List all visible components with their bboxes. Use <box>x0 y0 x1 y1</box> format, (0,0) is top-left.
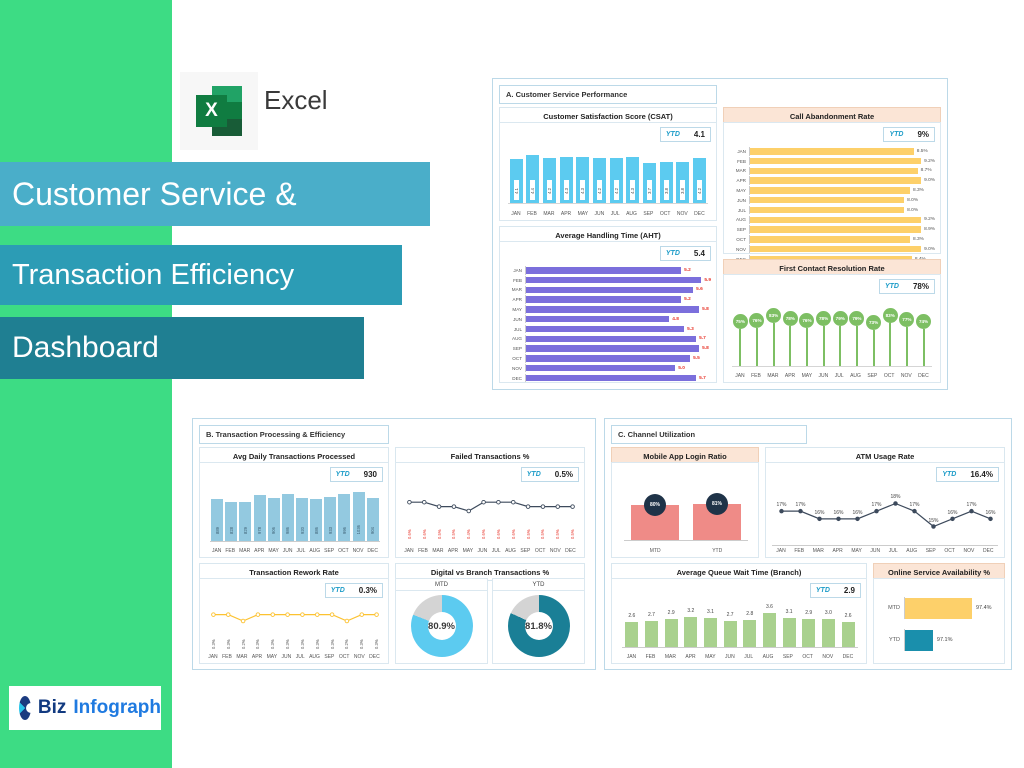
fcr-x-axis: JANFEBMARAPRMAYJUNJULAUGSEPOCTNOVDEC <box>732 373 932 379</box>
rework-ytd-label: YTD <box>331 587 345 594</box>
csat-ytd-value: 4.1 <box>694 130 705 139</box>
excel-app-name: Excel <box>264 85 328 116</box>
logo-biz-text: Biz <box>38 697 67 719</box>
call-abandonment-plot-area: JAN8.5%FEB9.2%MAR8.7%APR9.0%MAY8.3%JUN8.… <box>729 147 935 265</box>
aht-ytd-box: YTD 5.4 <box>660 246 711 261</box>
adt-ytd-value: 930 <box>364 470 377 479</box>
failed-ytd-value: 0.5% <box>555 470 573 479</box>
csat-plot-area: 4.14.44.24.34.34.24.24.33.73.83.84.2 <box>508 149 708 204</box>
aht-plot-area: JAN5.2FEB5.9MAR5.6APR5.2MAY5.8JUN4.8JUL5… <box>505 266 711 384</box>
rework-x-axis: JANFEBMARAPRMAYJUNJULAUGSEPOCTNOVDEC <box>206 654 382 660</box>
failed-ytd-label: YTD <box>527 471 541 478</box>
mobile-login-x-axis: MTDYTD <box>624 548 748 554</box>
donut-mtd: 80.9% <box>411 595 473 657</box>
adt-plot-area: 8898288299789069869208869339961036904 <box>210 489 380 542</box>
fcr-ytd-value: 78% <box>913 282 929 291</box>
csat-ytd-label: YTD <box>666 131 680 138</box>
chart-digital-vs-branch: MTD 80.9% YTD 81.8% <box>395 578 585 664</box>
left-green-band <box>0 0 172 768</box>
failed-x-axis: JANFEBMARAPRMAYJUNJULAUGSEPOCTNOVDEC <box>402 548 578 554</box>
pie-chart-icon <box>19 696 31 720</box>
chart-call-abandonment: YTD 9% JAN8.5%FEB9.2%MAR8.7%APR9.0%MAY8.… <box>723 122 941 254</box>
aht-ytd-label: YTD <box>666 250 680 257</box>
adt-x-axis: JANFEBMARAPRMAYJUNJULAUGSEPOCTNOVDEC <box>210 548 380 554</box>
panel-transaction-processing: B. Transaction Processing & Efficiency A… <box>192 418 596 670</box>
donut-ytd-value: 81.8% <box>508 595 570 657</box>
title-line-2: Transaction Efficiency <box>0 245 402 305</box>
atm-ytd-value: 16.4% <box>970 470 993 479</box>
mobile-login-plot-area: 80%81% <box>624 477 748 541</box>
fcr-plot-area: 75%76%83%78%76%78%79%79%73%83%77%74% <box>732 303 932 367</box>
adt-ytd-label: YTD <box>336 471 350 478</box>
donut-mtd-label: MTD <box>396 579 487 591</box>
donut-card-ytd: YTD 81.8% <box>492 578 585 664</box>
chart-avg-daily-transactions: YTD 930 88982882997890698692088693399610… <box>199 462 389 558</box>
donut-mtd-value: 80.9% <box>411 595 473 657</box>
queue-ytd-box: YTD 2.9 <box>810 583 861 598</box>
csat-x-axis: JANFEBMARAPRMAYJUNJULAUGSEPOCTNOVDEC <box>508 211 708 217</box>
queue-plot-area: 2.62.72.93.23.12.72.83.63.12.93.02.6 <box>622 609 858 648</box>
chart-rework-rate: YTD 0.3% 0.3%0.3%0.2%0.3%0.3%0.3%0.3%0.3… <box>199 578 389 664</box>
rework-value-labels: 0.3%0.3%0.2%0.3%0.3%0.3%0.3%0.3%0.3%0.2%… <box>206 623 384 649</box>
section-a-title: A. Customer Service Performance <box>499 85 717 104</box>
chart-failed-transactions: YTD 0.5% 0.6%0.6%0.5%0.5%0.4%0.6%0.6%0.6… <box>395 462 585 558</box>
atm-value-labels: 17%17%16%16%16%17%18%17%15%16%17%16% <box>772 491 1000 539</box>
rework-ytd-value: 0.3% <box>359 586 377 595</box>
logo-infograph-text: Infograph <box>73 697 161 719</box>
title-line-3: Dashboard <box>0 317 364 379</box>
failed-value-labels: 0.6%0.6%0.5%0.5%0.4%0.6%0.6%0.6%0.5%0.5%… <box>402 513 580 539</box>
excel-logo-badge: X <box>180 72 258 150</box>
atm-x-axis: JANFEBMARAPRMAYJUNJULAUGSEPOCTNOVDEC <box>772 545 998 554</box>
fcr-ytd-label: YTD <box>885 283 899 290</box>
availability-plot-area: MTD97.4%YTD97.1% <box>880 587 998 661</box>
section-b-title: B. Transaction Processing & Efficiency <box>199 425 389 444</box>
queue-x-axis: JANFEBMARAPRMAYJUNJULAUGSEPOCTNOVDEC <box>622 654 858 660</box>
biz-infograph-logo: Biz Infograph <box>9 686 161 730</box>
rework-ytd-box: YTD 0.3% <box>325 583 383 598</box>
section-c-title: C. Channel Utilization <box>611 425 807 444</box>
chart-atm-usage: YTD 16.4% 17%17%16%16%16%17%18%17%15%16%… <box>765 462 1005 558</box>
queue-ytd-value: 2.9 <box>844 586 855 595</box>
adt-ytd-box: YTD 930 <box>330 467 383 482</box>
panel-channel-utilization: C. Channel Utilization Mobile App Login … <box>604 418 1012 670</box>
aht-ytd-value: 5.4 <box>694 249 705 258</box>
panel-customer-service-performance: A. Customer Service Performance Customer… <box>492 78 948 390</box>
chart-mobile-app-login: 80%81% MTDYTD <box>611 462 759 558</box>
donut-ytd-label: YTD <box>493 579 584 591</box>
donut-ytd: 81.8% <box>508 595 570 657</box>
excel-icon: X <box>196 86 242 136</box>
chart-queue-wait: YTD 2.9 2.62.72.93.23.12.72.83.63.12.93.… <box>611 578 867 664</box>
fcr-ytd-box: YTD 78% <box>879 279 935 294</box>
atm-ytd-label: YTD <box>942 471 956 478</box>
title-line-1: Customer Service & <box>0 162 430 226</box>
failed-ytd-box: YTD 0.5% <box>521 467 579 482</box>
queue-ytd-label: YTD <box>816 587 830 594</box>
chart-fcr: YTD 78% 75%76%83%78%76%78%79%79%73%83%77… <box>723 274 941 383</box>
call-abandonment-ytd-value: 9% <box>917 130 929 139</box>
chart-aht: YTD 5.4 JAN5.2FEB5.9MAR5.6APR5.2MAY5.8JU… <box>499 241 717 383</box>
csat-ytd-box: YTD 4.1 <box>660 127 711 142</box>
call-abandonment-ytd-box: YTD 9% <box>883 127 935 142</box>
call-abandonment-ytd-label: YTD <box>889 131 903 138</box>
chart-online-availability: MTD97.4%YTD97.1% <box>873 578 1005 664</box>
chart-csat: YTD 4.1 4.14.44.24.34.34.24.24.33.73.83.… <box>499 122 717 221</box>
atm-ytd-box: YTD 16.4% <box>936 467 999 482</box>
donut-card-mtd: MTD 80.9% <box>395 578 488 664</box>
